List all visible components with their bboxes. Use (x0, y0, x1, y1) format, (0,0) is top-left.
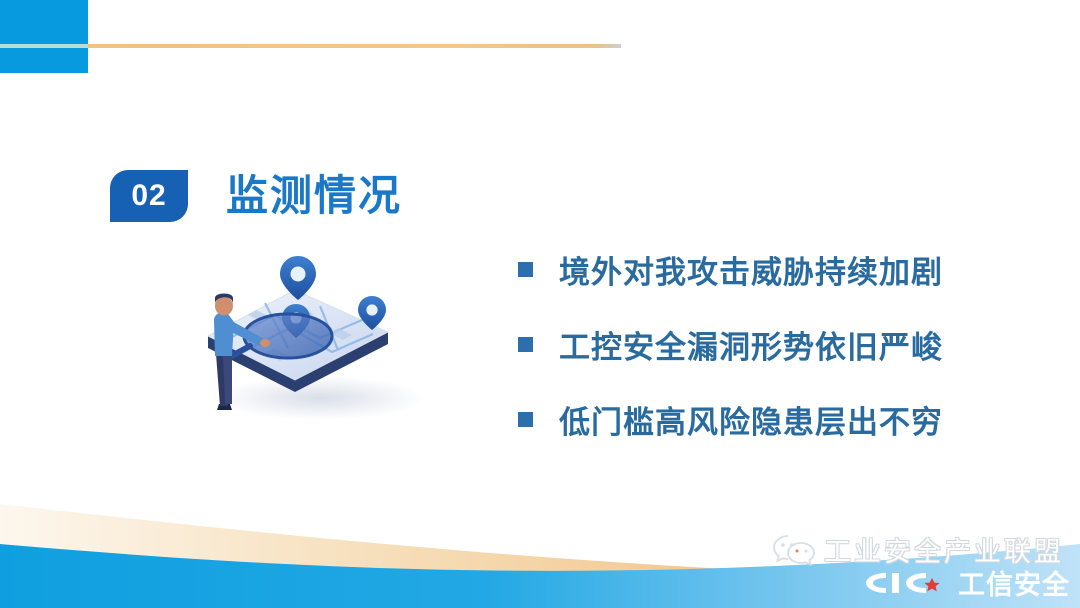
section-number-label: 02 (131, 179, 166, 213)
bullet-square-icon (518, 337, 533, 352)
header-gold-rule (88, 44, 621, 48)
section-heading: 02 监测情况 (110, 170, 402, 222)
cic-logo-text: 工信安全 (958, 563, 1070, 602)
top-left-accent-block (0, 0, 88, 73)
bullet-text: 低门槛高风险隐患层出不穷 (559, 397, 943, 442)
map-pin-top (280, 256, 316, 300)
bullet-list: 境外对我攻击威胁持续加剧 工控安全漏洞形势依旧严峻 低门槛高风险隐患层出不穷 (518, 232, 943, 457)
slide-canvas: 02 监测情况 (0, 0, 1080, 608)
list-item: 境外对我攻击威胁持续加剧 (518, 232, 943, 307)
bullet-square-icon (518, 262, 533, 277)
illustration-ground-shadow (215, 376, 425, 420)
list-item: 低门槛高风险隐患层出不穷 (518, 382, 943, 457)
page-title: 监测情况 (226, 175, 402, 217)
cic-logomark (862, 567, 954, 599)
map-search-illustration (170, 248, 435, 423)
bullet-square-icon (518, 412, 533, 427)
bullet-text: 工控安全漏洞形势依旧严峻 (559, 322, 943, 367)
bullet-text: 境外对我攻击威胁持续加剧 (559, 247, 943, 292)
list-item: 工控安全漏洞形势依旧严峻 (518, 307, 943, 382)
top-left-accent-line (0, 44, 88, 48)
footer-branding: 工业安全产业联盟 工信安全 (772, 530, 1072, 602)
cic-logo: 工信安全 (862, 563, 1070, 602)
wechat-icon (772, 533, 816, 567)
section-number-badge: 02 (110, 170, 188, 222)
